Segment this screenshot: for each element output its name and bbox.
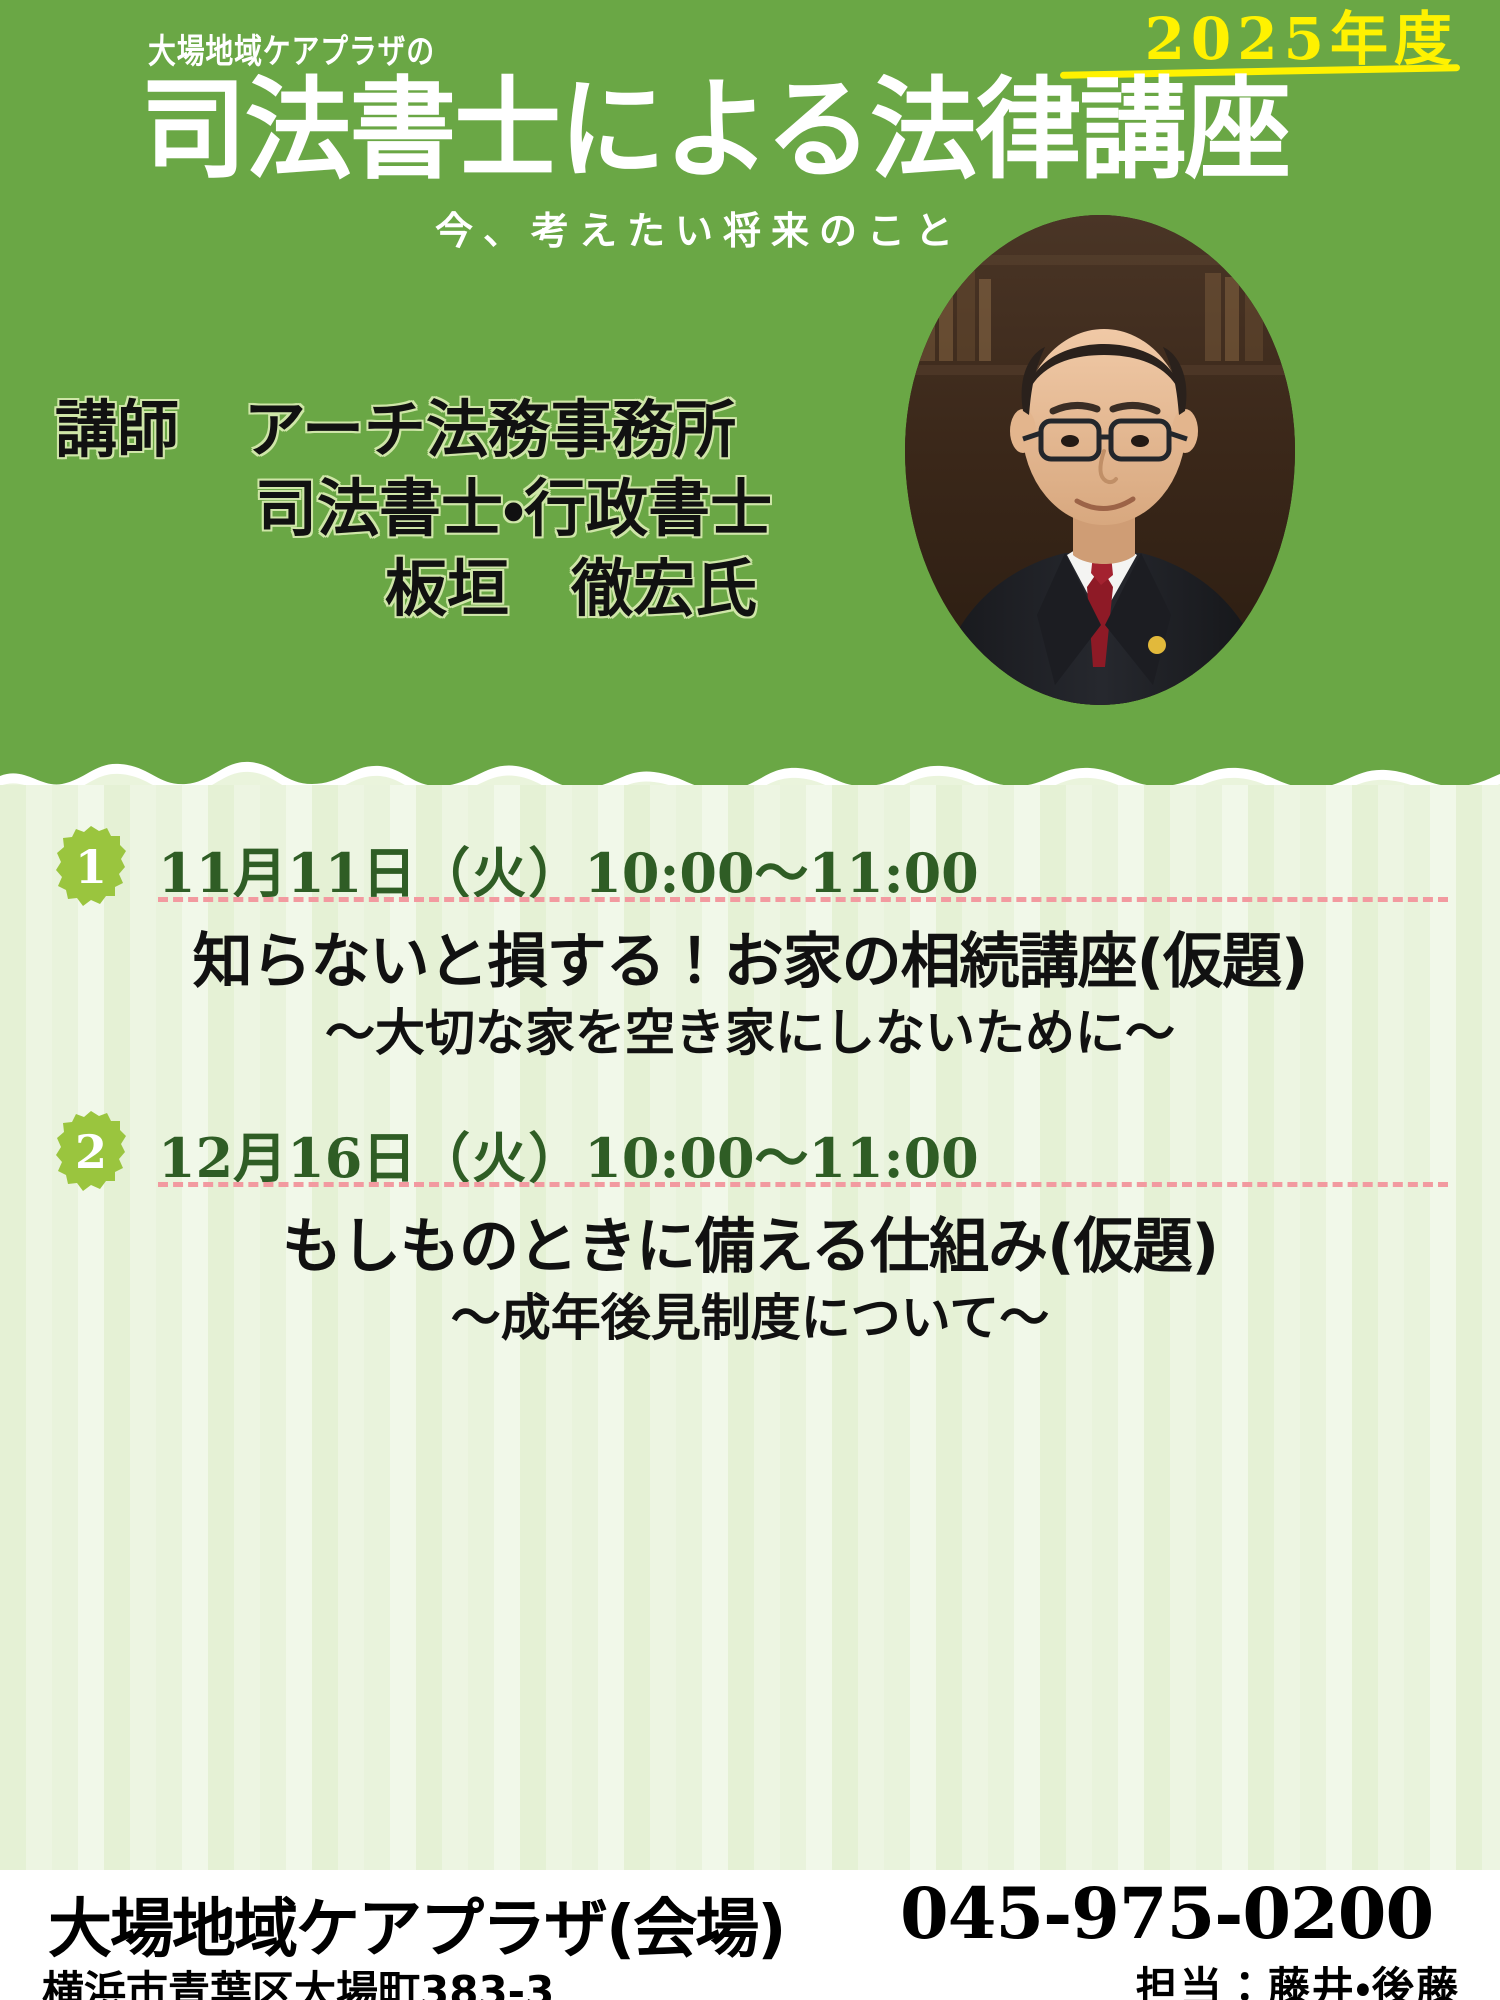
lecturer-line-office: 講師 アーチ法務事務所 bbox=[55, 390, 772, 469]
page-title: 司法書士による法律講座 bbox=[140, 70, 1289, 191]
wave-divider bbox=[0, 742, 1500, 790]
session-divider-2 bbox=[158, 1182, 1448, 1187]
lecturer-office: アーチ法務事務所 bbox=[244, 393, 736, 466]
session-number-1: 1 bbox=[55, 825, 127, 909]
session-subtitle-2: ～成年後見制度について～ bbox=[0, 1278, 1500, 1350]
lecturer-portrait-photo bbox=[905, 215, 1295, 705]
session-number-badge-1: 1 bbox=[55, 825, 127, 909]
contact-phone-number: 045-975-0200 bbox=[900, 1872, 1433, 1955]
venue-name: 大場地域ケアプラザ(会場) bbox=[48, 1878, 785, 1970]
session-time-1: 10:00～11:00 bbox=[584, 841, 978, 905]
session-weekday-2: （火） bbox=[416, 1126, 584, 1190]
session-date-2: 12月16日 bbox=[158, 1126, 416, 1190]
session-title-2: もしものときに備える仕組み(仮題) bbox=[0, 1198, 1500, 1285]
venue-address: 横浜市青葉区大場町383-3 bbox=[42, 1958, 554, 2000]
year-badge: 2025年度 bbox=[1145, 10, 1458, 68]
session-number-2: 2 bbox=[55, 1110, 127, 1194]
session-date-1: 11月11日 bbox=[158, 841, 416, 905]
lecturer-info: 講師 アーチ法務事務所 司法書士・行政書士 板垣 徹宏氏 bbox=[55, 390, 772, 628]
session-subtitle-1: ～大切な家を空き家にしないために～ bbox=[0, 993, 1500, 1065]
session-number-badge-2: 2 bbox=[55, 1110, 127, 1194]
lecturer-label: 講師 bbox=[55, 393, 179, 466]
session-weekday-1: （火） bbox=[416, 841, 584, 905]
lecturer-name: 板垣 徹宏氏 bbox=[55, 549, 772, 628]
footer-section: 大場地域ケアプラザ(会場) 045-975-0200 横浜市青葉区大場町383-… bbox=[0, 1870, 1500, 2000]
contact-staff: 担当：藤井・後藤 bbox=[1136, 1954, 1460, 2000]
session-time-2: 10:00～11:00 bbox=[584, 1126, 978, 1190]
body-section: 1 11月11日（火）10:00～11:00 知らないと損する！お家の相続講座(… bbox=[0, 785, 1500, 1870]
flyer-poster: 大場地域ケアプラザの 2025年度 司法書士による法律講座 今、考えたい将来のこ… bbox=[0, 0, 1500, 2000]
page-subtitle: 今、考えたい将来のこと bbox=[435, 200, 963, 255]
session-title-1: 知らないと損する！お家の相続講座(仮題) bbox=[0, 913, 1500, 1000]
session-divider-1 bbox=[158, 897, 1448, 902]
lecturer-qualification: 司法書士・行政書士 bbox=[55, 469, 772, 548]
header-section: 大場地域ケアプラザの 2025年度 司法書士による法律講座 今、考えたい将来のこ… bbox=[0, 0, 1500, 790]
